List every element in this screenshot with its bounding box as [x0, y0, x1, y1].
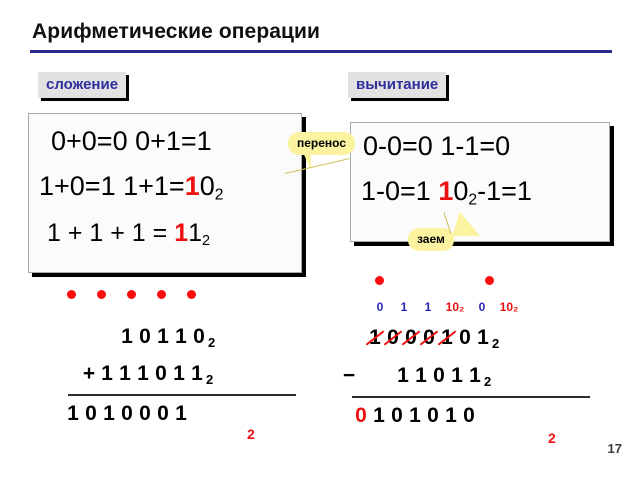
carry-dot [187, 290, 196, 299]
subtraction-operand-1: 10001012 [366, 326, 499, 351]
title-divider [30, 50, 612, 53]
rule-fragment: 1 + 1 + 1 = [47, 219, 174, 247]
number-base: 2 [206, 372, 213, 387]
addition-rule-line-1: 0+0=0 0+1=1 [51, 126, 212, 157]
rule-fragment: 0+1=1 [135, 126, 212, 156]
digit-pad [358, 364, 376, 388]
subtraction-rule-line-2: 1-0=1 102-1=1 [361, 176, 532, 209]
borrow-annotation: 1 [416, 300, 440, 314]
digit: 1 [442, 404, 460, 428]
borrow-annotation: 10₂ [494, 300, 524, 314]
borrow-callout-tail [452, 212, 480, 236]
rule-fragment: 2 [215, 186, 224, 203]
carry-callout: перенос [288, 132, 355, 155]
page-number: 17 [608, 441, 622, 456]
rule-fragment: -1=1 [477, 176, 532, 206]
addition-sum-line [68, 394, 296, 396]
addition-result-base: 2 [247, 426, 255, 442]
rule-fragment: 1 [438, 176, 453, 206]
number-base: 2 [484, 374, 491, 389]
digit: 1 [438, 326, 456, 350]
carry-dot [127, 290, 136, 299]
digit: 1 [466, 364, 484, 388]
subtraction-rule-line-1: 0-0=0 1-1=0 [363, 131, 510, 162]
digit: 1 [64, 402, 82, 426]
section-tag-subtraction[interactable]: вычитание [348, 72, 446, 98]
operator-sign: + [80, 362, 98, 386]
addition-rule-line-3: 1 + 1 + 1 = 112 [47, 219, 210, 249]
rule-fragment: 0 [200, 171, 215, 201]
digit: 0 [136, 402, 154, 426]
digit: 0 [402, 326, 420, 350]
digit: 0 [456, 326, 474, 350]
digit: 1 [412, 364, 430, 388]
rule-fragment: 1+1= [123, 171, 185, 201]
digit: 0 [118, 402, 136, 426]
rule-fragment: 0+0=0 [51, 126, 128, 156]
digit: 1 [448, 364, 466, 388]
borrow-annotation: 1 [392, 300, 416, 314]
number-base: 2 [492, 336, 499, 351]
carry-dot [67, 290, 76, 299]
digit: 0 [352, 404, 370, 428]
digit: 1 [366, 326, 384, 350]
rule-fragment: 1+0=1 [39, 171, 116, 201]
subtraction-operand-2: − 110112 [340, 364, 491, 389]
subtraction-result: 0101010 [352, 404, 478, 428]
digit: 0 [460, 404, 478, 428]
digit: 0 [420, 326, 438, 350]
digit: 1 [116, 362, 134, 386]
digit: 1 [394, 364, 412, 388]
digit: 0 [430, 364, 448, 388]
digit: 1 [134, 362, 152, 386]
subtraction-borrow-annotations: 01110₂010₂ [368, 300, 524, 314]
section-tag-addition[interactable]: сложение [38, 72, 126, 98]
rule-fragment: 1 [185, 171, 200, 201]
digit: 1 [172, 402, 190, 426]
borrow-callout: заем [408, 228, 454, 251]
digit: 0 [154, 402, 172, 426]
carry-dot [97, 290, 106, 299]
borrow-dot [485, 276, 494, 285]
digit: 1 [406, 404, 424, 428]
addition-result: 1010001 [64, 402, 190, 426]
subtraction-result-base: 2 [548, 430, 556, 446]
digit: 1 [170, 362, 188, 386]
number-base: 2 [208, 335, 215, 350]
addition-rule-line-2: 1+0=1 1+1=102 [39, 171, 223, 204]
rule-fragment: 1 [174, 219, 188, 247]
rule-fragment: 2 [202, 233, 210, 249]
addition-operand-2: +1110112 [80, 362, 213, 387]
digit: 1 [370, 404, 388, 428]
digit: 1 [188, 362, 206, 386]
addition-operand-1: 101102 [118, 325, 215, 350]
digit: 1 [172, 325, 190, 349]
subtraction-rules-box: 0-0=0 1-1=0 1-0=1 102-1=1 [350, 122, 610, 242]
digit: 1 [118, 325, 136, 349]
borrow-annotation: 0 [470, 300, 494, 314]
digit: 0 [384, 326, 402, 350]
strikethrough-mark [384, 330, 403, 345]
digit: 1 [154, 325, 172, 349]
digit: 0 [388, 404, 406, 428]
rule-fragment: 0-0=0 [363, 131, 433, 161]
page-title: Арифметические операции [32, 20, 320, 44]
addition-rules-box: 0+0=0 0+1=1 1+0=1 1+1=102 1 + 1 + 1 = 11… [28, 113, 302, 273]
digit: 0 [136, 325, 154, 349]
digit: 1 [100, 402, 118, 426]
strikethrough-mark [402, 330, 421, 345]
strikethrough-mark [366, 330, 385, 345]
digit: 0 [424, 404, 442, 428]
strikethrough-mark [438, 330, 457, 345]
digit: 0 [82, 402, 100, 426]
rule-fragment [128, 126, 136, 156]
operator-sign: − [340, 364, 358, 388]
strikethrough-mark [420, 330, 439, 345]
borrow-annotation: 0 [368, 300, 392, 314]
borrow-dot [375, 276, 384, 285]
digit-pad [376, 364, 394, 388]
carry-dot [157, 290, 166, 299]
rule-fragment: 1-0=1 [361, 176, 431, 206]
subtraction-difference-line [352, 396, 590, 398]
rule-fragment [116, 171, 124, 201]
digit: 0 [190, 325, 208, 349]
borrow-annotation: 10₂ [440, 300, 470, 314]
rule-fragment: 1-1=0 [440, 131, 510, 161]
digit: 1 [474, 326, 492, 350]
digit: 1 [98, 362, 116, 386]
digit: 0 [152, 362, 170, 386]
rule-fragment: 0 [453, 176, 468, 206]
rule-fragment: 2 [468, 191, 477, 208]
rule-fragment: 1 [188, 219, 202, 247]
